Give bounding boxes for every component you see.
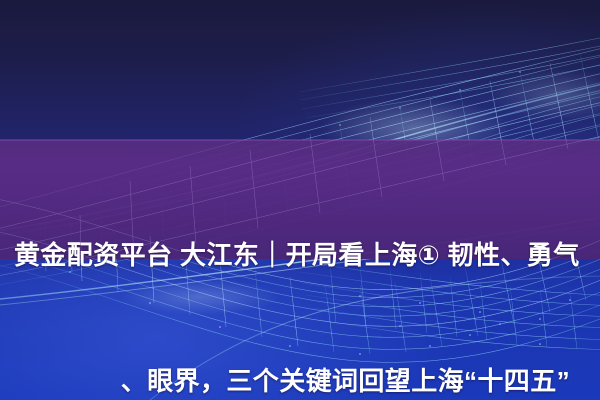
banner-image: 黄金配资平台 大江东｜开局看上海① 韧性、勇气 、眼界，三个关键词回望上海“十四… [0,0,600,400]
headline-line-1: 黄金配资平台 大江东｜开局看上海① 韧性、勇气 [8,234,592,276]
banner-headline: 黄金配资平台 大江东｜开局看上海① 韧性、勇气 、眼界，三个关键词回望上海“十四… [0,150,600,400]
headline-line-2: 、眼界，三个关键词回望上海“十四五” [8,360,592,400]
